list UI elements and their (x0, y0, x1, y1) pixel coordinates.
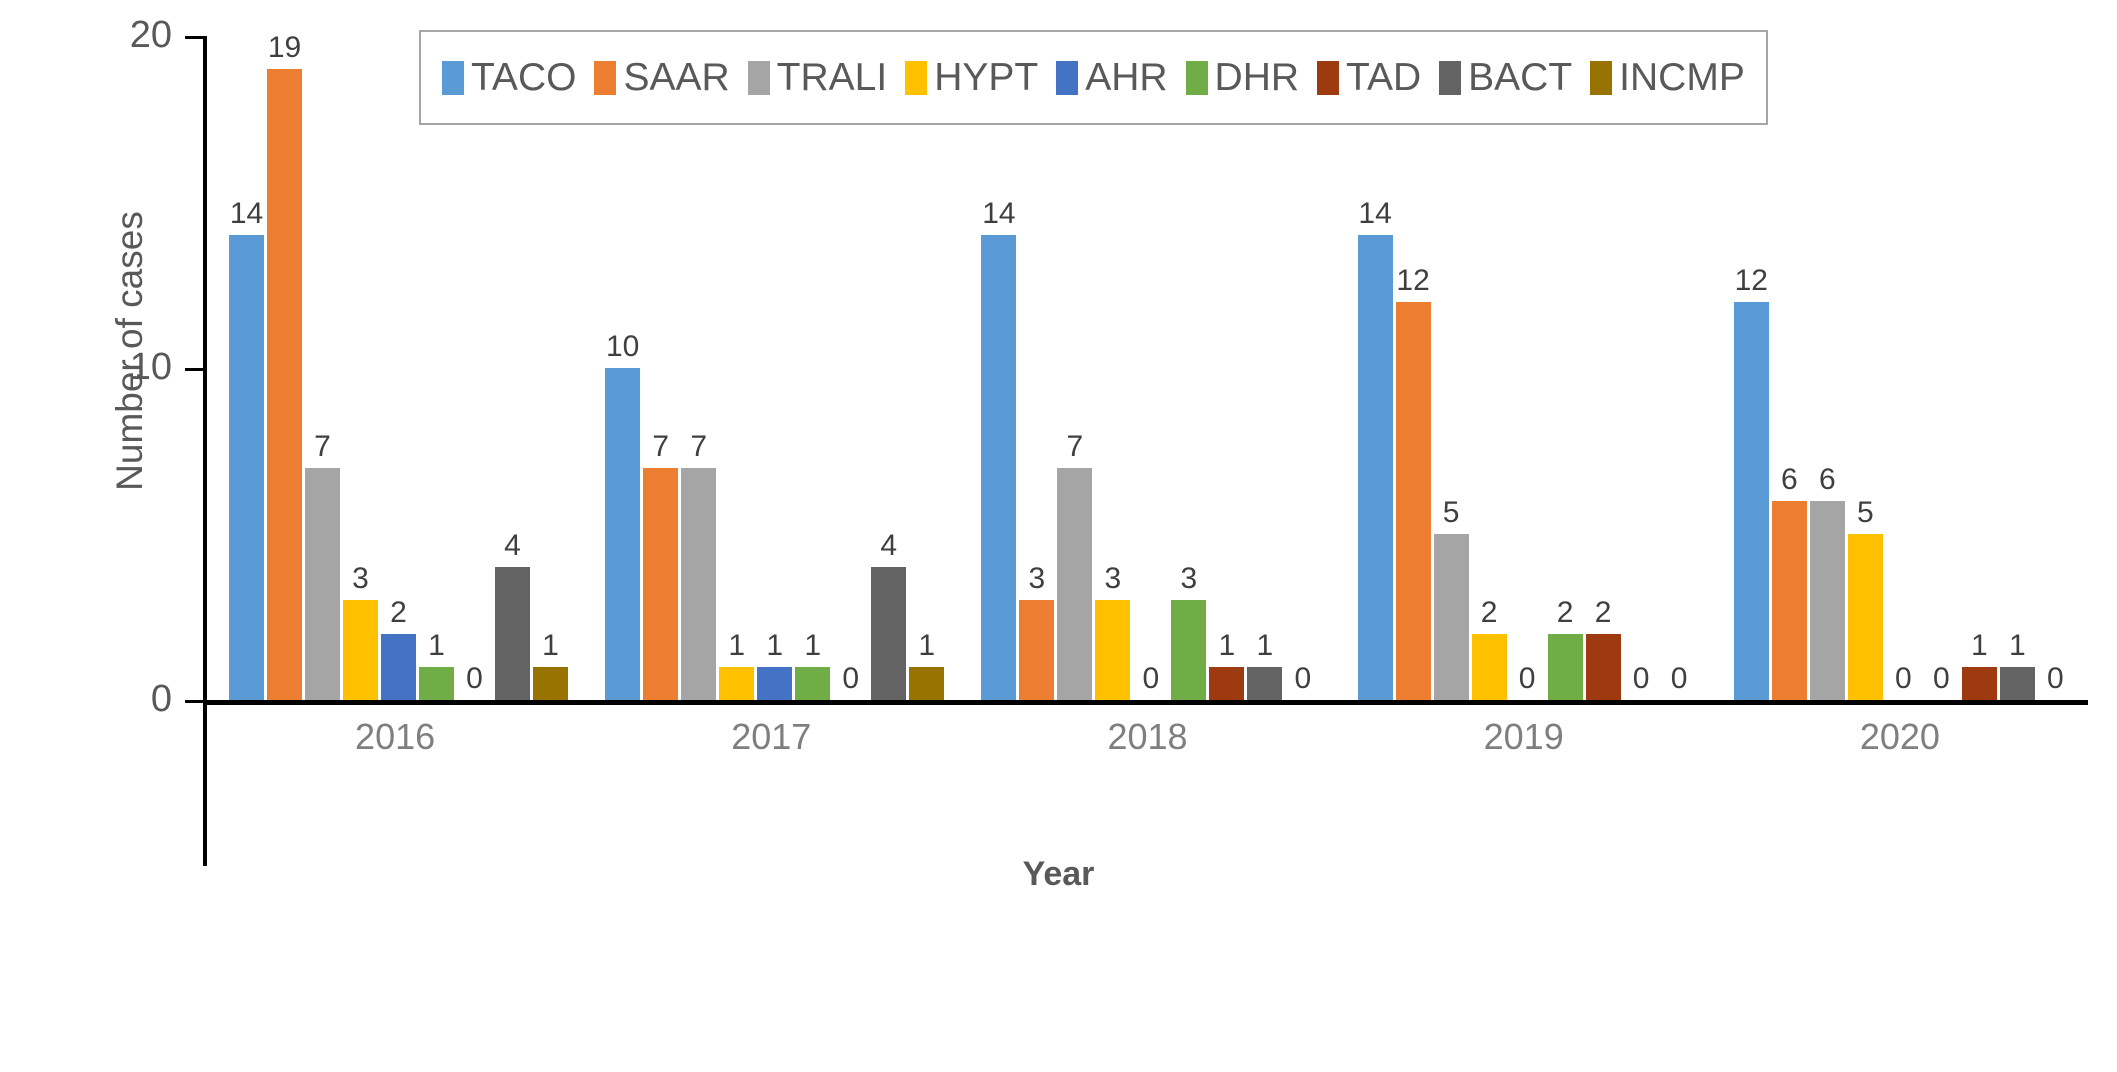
bar-rect[interactable] (681, 468, 716, 700)
legend-item-hypt[interactable]: HYPT (896, 58, 1047, 97)
x-axis-tick-label-2019: 2019 (1336, 716, 1712, 758)
bar-value-label: 1 (542, 631, 559, 661)
bar-hypt-2016[interactable]: 3 (343, 36, 378, 700)
bar-value-label: 0 (466, 664, 483, 694)
bar-trali-2019[interactable]: 5 (1434, 36, 1469, 700)
bar-tad-2020[interactable]: 1 (1962, 36, 1997, 700)
bar-rect[interactable] (1472, 634, 1507, 700)
bar-ahr-2017[interactable]: 1 (757, 36, 792, 700)
bar-bact-2019[interactable]: 0 (1624, 36, 1659, 700)
bar-group-2020: 1266500110 (1712, 36, 2088, 700)
bar-tad-2016[interactable]: 0 (457, 36, 492, 700)
bar-value-label: 0 (2047, 664, 2064, 694)
bar-taco-2018[interactable]: 14 (981, 36, 1016, 700)
bar-rect[interactable] (1962, 667, 1997, 700)
bar-hypt-2019[interactable]: 2 (1472, 36, 1507, 700)
bar-dhr-2018[interactable]: 3 (1171, 36, 1206, 700)
bar-value-label: 5 (1443, 498, 1460, 528)
legend-item-bact[interactable]: BACT (1430, 58, 1581, 97)
bar-dhr-2020[interactable]: 0 (1924, 36, 1959, 700)
x-axis-tick-label-2016: 2016 (207, 716, 583, 758)
bar-value-label: 1 (804, 631, 821, 661)
bar-tad-2019[interactable]: 2 (1586, 36, 1621, 700)
bar-value-label: 7 (690, 432, 707, 462)
bar-bact-2020[interactable]: 1 (2000, 36, 2035, 700)
legend-swatch-dhr-icon (1186, 61, 1208, 95)
bar-value-label: 10 (606, 332, 639, 362)
bar-rect[interactable] (981, 235, 1016, 700)
bar-dhr-2017[interactable]: 1 (795, 36, 830, 700)
bar-value-label: 2 (1595, 598, 1612, 628)
bar-value-label: 4 (504, 531, 521, 561)
bar-value-label: 0 (1519, 664, 1536, 694)
bar-dhr-2016[interactable]: 1 (419, 36, 454, 700)
legend-item-taco[interactable]: TACO (433, 58, 585, 97)
bar-value-label: 6 (1819, 465, 1836, 495)
bar-rect[interactable] (1848, 534, 1883, 700)
bar-value-label: 0 (1671, 664, 1688, 694)
bar-rect[interactable] (495, 567, 530, 700)
bar-value-label: 0 (1633, 664, 1650, 694)
bar-rect[interactable] (2000, 667, 2035, 700)
legend-swatch-trali-icon (748, 61, 770, 95)
bar-value-label: 19 (268, 33, 301, 63)
bar-rect[interactable] (1586, 634, 1621, 700)
bar-value-label: 4 (880, 531, 897, 561)
bar-value-label: 1 (728, 631, 745, 661)
bar-value-label: 0 (1933, 664, 1950, 694)
bar-chart: 20 10 0 Number of cases 1419732104110771… (0, 0, 2117, 1072)
legend-label: TACO (471, 58, 576, 97)
bar-trali-2020[interactable]: 6 (1810, 36, 1845, 700)
y-axis-tick-label-20: 20 (110, 16, 172, 54)
bar-value-label: 2 (1481, 598, 1498, 628)
bar-value-label: 2 (1557, 598, 1574, 628)
bar-rect[interactable] (871, 567, 906, 700)
bar-tad-2017[interactable]: 0 (833, 36, 868, 700)
bar-value-label: 3 (1181, 564, 1198, 594)
bar-rect[interactable] (1434, 534, 1469, 700)
legend-label: BACT (1468, 58, 1572, 97)
bar-value-label: 14 (230, 199, 263, 229)
x-axis-title: Year (0, 855, 2117, 894)
legend-label: AHR (1085, 58, 1167, 97)
bar-saar-2018[interactable]: 3 (1019, 36, 1054, 700)
legend: TACOSAARTRALIHYPTAHRDHRTADBACTINCMP (419, 30, 1768, 125)
bar-rect[interactable] (1358, 235, 1393, 700)
bar-rect[interactable] (795, 667, 830, 700)
bar-value-label: 7 (1067, 432, 1084, 462)
bar-rect[interactable] (533, 667, 568, 700)
bar-rect[interactable] (1548, 634, 1583, 700)
x-axis-line (203, 700, 2088, 705)
bar-ahr-2016[interactable]: 2 (381, 36, 416, 700)
legend-label: DHR (1215, 58, 1300, 97)
bar-value-label: 3 (1105, 564, 1122, 594)
bar-rect[interactable] (1247, 667, 1282, 700)
bar-saar-2019[interactable]: 12 (1396, 36, 1431, 700)
x-axis-tick-label-2018: 2018 (959, 716, 1335, 758)
bar-bact-2018[interactable]: 1 (1247, 36, 1282, 700)
bar-bact-2016[interactable]: 4 (495, 36, 530, 700)
bar-rect[interactable] (909, 667, 944, 700)
bar-rect[interactable] (381, 634, 416, 700)
bar-value-label: 0 (1895, 664, 1912, 694)
legend-swatch-hypt-icon (905, 61, 927, 95)
bar-saar-2017[interactable]: 7 (643, 36, 678, 700)
legend-label: TRALI (777, 58, 888, 97)
bar-incmp-2017[interactable]: 1 (909, 36, 944, 700)
bar-taco-2016[interactable]: 14 (229, 36, 264, 700)
bar-incmp-2020[interactable]: 0 (2038, 36, 2073, 700)
bar-value-label: 1 (766, 631, 783, 661)
legend-item-tad[interactable]: TAD (1308, 58, 1430, 97)
bar-value-label: 7 (652, 432, 669, 462)
legend-item-saar[interactable]: SAAR (585, 58, 738, 97)
bar-value-label: 12 (1735, 266, 1768, 296)
bar-saar-2020[interactable]: 6 (1772, 36, 1807, 700)
bar-taco-2020[interactable]: 12 (1734, 36, 1769, 700)
bar-tad-2018[interactable]: 1 (1209, 36, 1244, 700)
bar-rect[interactable] (1095, 600, 1130, 700)
bar-value-label: 2 (390, 598, 407, 628)
bar-incmp-2019[interactable]: 0 (1662, 36, 1697, 700)
bar-ahr-2019[interactable]: 0 (1510, 36, 1545, 700)
bar-value-label: 1 (2009, 631, 2026, 661)
bar-rect[interactable] (343, 600, 378, 700)
bar-rect[interactable] (757, 667, 792, 700)
bar-value-label: 6 (1781, 465, 1798, 495)
bar-value-label: 1 (918, 631, 935, 661)
bar-rect[interactable] (605, 368, 640, 700)
bar-group-2017: 1077111041 (583, 36, 959, 700)
bar-rect[interactable] (1171, 600, 1206, 700)
legend-label: SAAR (623, 58, 729, 97)
bar-group-2019: 14125202200 (1336, 36, 1712, 700)
bar-trali-2018[interactable]: 7 (1057, 36, 1092, 700)
legend-item-trali[interactable]: TRALI (739, 58, 897, 97)
bar-hypt-2017[interactable]: 1 (719, 36, 754, 700)
bar-dhr-2019[interactable]: 2 (1548, 36, 1583, 700)
y-axis-tick-10 (185, 368, 207, 371)
y-axis-tick-label-0: 0 (110, 680, 172, 718)
bar-value-label: 3 (352, 564, 369, 594)
bar-group-2016: 14197321041 (207, 36, 583, 700)
legend-label: TAD (1346, 58, 1421, 97)
bar-rect[interactable] (267, 69, 302, 700)
bar-rect[interactable] (643, 468, 678, 700)
bar-incmp-2016[interactable]: 1 (533, 36, 568, 700)
bar-rect[interactable] (419, 667, 454, 700)
legend-label: INCMP (1619, 58, 1745, 97)
bar-value-label: 7 (314, 432, 331, 462)
legend-swatch-taco-icon (442, 61, 464, 95)
bar-hypt-2020[interactable]: 5 (1848, 36, 1883, 700)
legend-swatch-tad-icon (1317, 61, 1339, 95)
bar-saar-2016[interactable]: 19 (267, 36, 302, 700)
bar-rect[interactable] (1057, 468, 1092, 700)
bar-value-label: 12 (1396, 266, 1429, 296)
y-axis-title: Number of cases (109, 201, 151, 501)
bar-rect[interactable] (1810, 501, 1845, 700)
legend-item-ahr[interactable]: AHR (1047, 58, 1176, 97)
legend-swatch-ahr-icon (1056, 61, 1078, 95)
bar-value-label: 1 (428, 631, 445, 661)
bar-value-label: 14 (982, 199, 1015, 229)
bar-rect[interactable] (1396, 302, 1431, 700)
bar-rect[interactable] (1734, 302, 1769, 700)
bar-rect[interactable] (229, 235, 264, 700)
bar-incmp-2018[interactable]: 0 (1285, 36, 1320, 700)
bar-rect[interactable] (305, 468, 340, 700)
legend-label: HYPT (934, 58, 1038, 97)
legend-swatch-bact-icon (1439, 61, 1461, 95)
bar-value-label: 5 (1857, 498, 1874, 528)
y-axis-tick-20 (185, 36, 207, 39)
bar-value-label: 0 (1295, 664, 1312, 694)
legend-swatch-saar-icon (594, 61, 616, 95)
bar-ahr-2020[interactable]: 0 (1886, 36, 1921, 700)
bar-value-label: 1 (1971, 631, 1988, 661)
bar-value-label: 1 (1257, 631, 1274, 661)
bar-taco-2019[interactable]: 14 (1358, 36, 1393, 700)
bar-rect[interactable] (1209, 667, 1244, 700)
bar-rect[interactable] (1772, 501, 1807, 700)
plot-area: 1419732104110771110411437303110141252022… (207, 36, 2088, 700)
bar-value-label: 0 (842, 664, 859, 694)
bar-value-label: 14 (1358, 199, 1391, 229)
legend-item-dhr[interactable]: DHR (1177, 58, 1309, 97)
x-axis-tick-label-2020: 2020 (1712, 716, 2088, 758)
bar-value-label: 0 (1143, 664, 1160, 694)
bar-value-label: 3 (1029, 564, 1046, 594)
legend-item-incmp[interactable]: INCMP (1581, 58, 1754, 97)
bar-trali-2016[interactable]: 7 (305, 36, 340, 700)
bar-rect[interactable] (719, 667, 754, 700)
legend-swatch-incmp-icon (1590, 61, 1612, 95)
bar-value-label: 1 (1219, 631, 1236, 661)
bar-bact-2017[interactable]: 4 (871, 36, 906, 700)
bar-ahr-2018[interactable]: 0 (1133, 36, 1168, 700)
bar-taco-2017[interactable]: 10 (605, 36, 640, 700)
bar-group-2018: 1437303110 (959, 36, 1335, 700)
bar-hypt-2018[interactable]: 3 (1095, 36, 1130, 700)
x-axis-tick-label-2017: 2017 (583, 716, 959, 758)
bar-rect[interactable] (1019, 600, 1054, 700)
bar-trali-2017[interactable]: 7 (681, 36, 716, 700)
